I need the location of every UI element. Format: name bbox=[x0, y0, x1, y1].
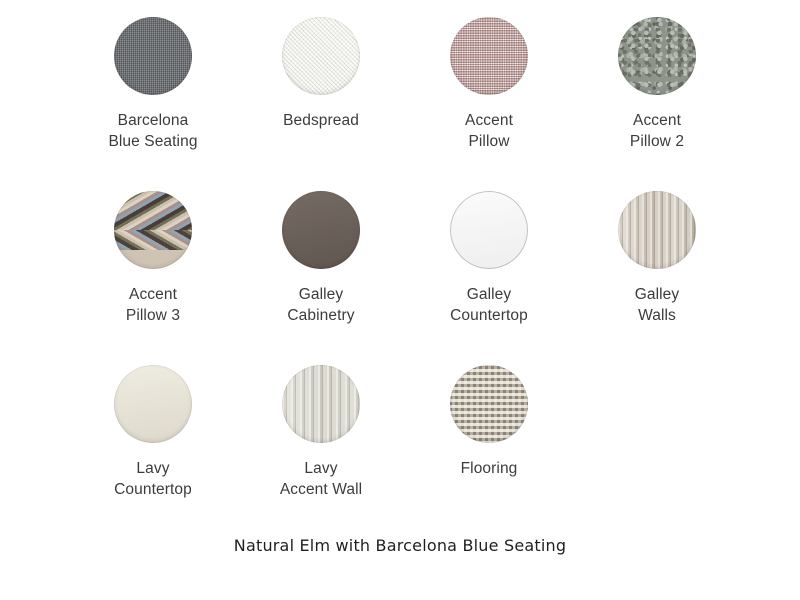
swatch-label-lavy-countertop: Lavy Countertop bbox=[73, 458, 233, 500]
swatch-label-line: Accent bbox=[73, 284, 233, 305]
swatch-label-line: Galley bbox=[577, 284, 737, 305]
swatch-grid: Barcelona Blue Seating Bedspread Accent … bbox=[69, 8, 741, 530]
swatch-disc-flooring[interactable] bbox=[450, 365, 528, 443]
swatch-cell-bedspread[interactable]: Bedspread bbox=[237, 8, 405, 182]
swatch-label-line: Accent bbox=[409, 110, 569, 131]
swatch-cell-accent-pillow-2[interactable]: Accent Pillow 2 bbox=[573, 8, 741, 182]
swatch-cell-flooring[interactable]: Flooring bbox=[405, 356, 573, 530]
swatch-label-line: Flooring bbox=[409, 458, 569, 479]
swatch-label-line: Barcelona bbox=[73, 110, 233, 131]
swatch-cell-accent-pillow[interactable]: Accent Pillow bbox=[405, 8, 573, 182]
swatch-label-bedspread: Bedspread bbox=[241, 110, 401, 131]
swatch-label-accent-pillow: Accent Pillow bbox=[409, 110, 569, 152]
swatch-label-galley-walls: Galley Walls bbox=[577, 284, 737, 326]
swatch-label-galley-cabinetry: Galley Cabinetry bbox=[241, 284, 401, 326]
swatch-label-line: Lavy bbox=[73, 458, 233, 479]
swatch-cell-lavy-countertop[interactable]: Lavy Countertop bbox=[69, 356, 237, 530]
swatch-disc-barcelona-blue-seating[interactable] bbox=[114, 17, 192, 95]
swatch-label-flooring: Flooring bbox=[409, 458, 569, 479]
swatch-label-line: Walls bbox=[577, 305, 737, 326]
swatch-disc-accent-pillow-2[interactable] bbox=[618, 17, 696, 95]
swatch-label-line: Cabinetry bbox=[241, 305, 401, 326]
swatch-disc-galley-walls[interactable] bbox=[618, 191, 696, 269]
swatch-label-lavy-accent-wall: Lavy Accent Wall bbox=[241, 458, 401, 500]
swatch-label-accent-pillow-3: Accent Pillow 3 bbox=[73, 284, 233, 326]
swatch-cell-galley-cabinetry[interactable]: Galley Cabinetry bbox=[237, 182, 405, 356]
swatch-label-galley-countertop: Galley Countertop bbox=[409, 284, 569, 326]
swatch-label-line: Pillow bbox=[409, 131, 569, 152]
swatch-label-line: Lavy bbox=[241, 458, 401, 479]
swatch-label-line: Galley bbox=[409, 284, 569, 305]
swatch-disc-bedspread[interactable] bbox=[282, 17, 360, 95]
swatch-label-line: Galley bbox=[241, 284, 401, 305]
swatch-disc-galley-cabinetry[interactable] bbox=[282, 191, 360, 269]
swatch-cell-barcelona-blue-seating[interactable]: Barcelona Blue Seating bbox=[69, 8, 237, 182]
board-caption: Natural Elm with Barcelona Blue Seating bbox=[0, 536, 800, 555]
swatch-label-line: Bedspread bbox=[241, 110, 401, 131]
swatch-disc-lavy-countertop[interactable] bbox=[114, 365, 192, 443]
swatch-disc-accent-pillow-3[interactable] bbox=[114, 191, 192, 269]
swatch-cell-accent-pillow-3[interactable]: Accent Pillow 3 bbox=[69, 182, 237, 356]
swatch-label-line: Countertop bbox=[409, 305, 569, 326]
swatch-label-line: Accent bbox=[577, 110, 737, 131]
swatch-label-barcelona-blue-seating: Barcelona Blue Seating bbox=[73, 110, 233, 152]
material-palette-board: Barcelona Blue Seating Bedspread Accent … bbox=[0, 0, 800, 600]
swatch-label-line: Pillow 3 bbox=[73, 305, 233, 326]
swatch-cell-galley-countertop[interactable]: Galley Countertop bbox=[405, 182, 573, 356]
swatch-disc-lavy-accent-wall[interactable] bbox=[282, 365, 360, 443]
swatch-cell-galley-walls[interactable]: Galley Walls bbox=[573, 182, 741, 356]
swatch-label-line: Accent Wall bbox=[241, 479, 401, 500]
swatch-label-line: Blue Seating bbox=[73, 131, 233, 152]
swatch-disc-galley-countertop[interactable] bbox=[450, 191, 528, 269]
swatch-cell-lavy-accent-wall[interactable]: Lavy Accent Wall bbox=[237, 356, 405, 530]
swatch-disc-accent-pillow[interactable] bbox=[450, 17, 528, 95]
swatch-label-line: Pillow 2 bbox=[577, 131, 737, 152]
swatch-label-line: Countertop bbox=[73, 479, 233, 500]
swatch-label-accent-pillow-2: Accent Pillow 2 bbox=[577, 110, 737, 152]
